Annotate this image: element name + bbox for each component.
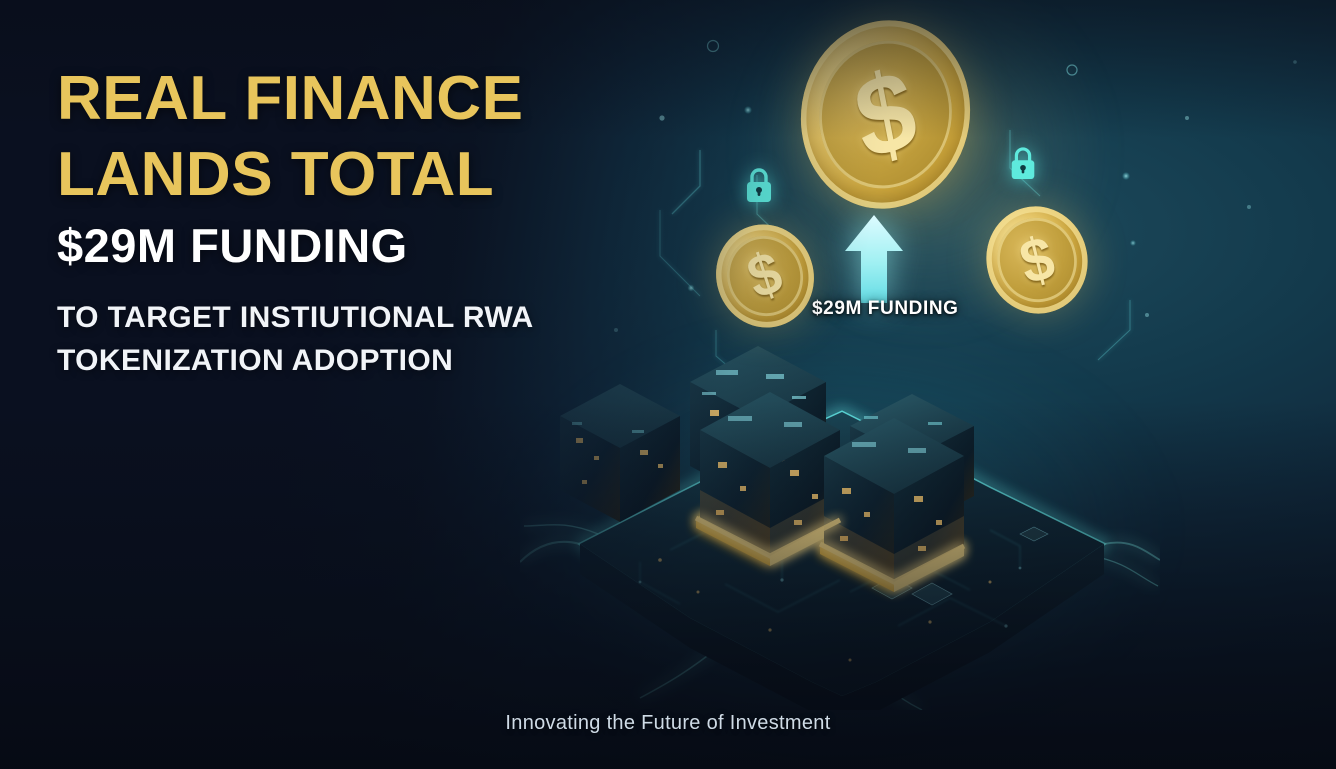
poster-canvas: $ $ $	[0, 0, 1336, 769]
headline-line-2: LANDS TOTAL	[57, 144, 697, 206]
headline-line-3: $29M FUNDING	[57, 222, 697, 269]
subheadline-line-2: TOKENIZATION ADOPTION	[57, 340, 697, 383]
tagline: Innovating the Future of Investment	[0, 712, 1336, 735]
subheadline-line-1: TO TARGET INSTIUTIONAL RWA	[57, 297, 697, 340]
headline-block: REAL FINANCE LANDS TOTAL $29M FUNDING TO…	[57, 68, 697, 382]
headline-line-1: REAL FINANCE	[57, 68, 697, 130]
